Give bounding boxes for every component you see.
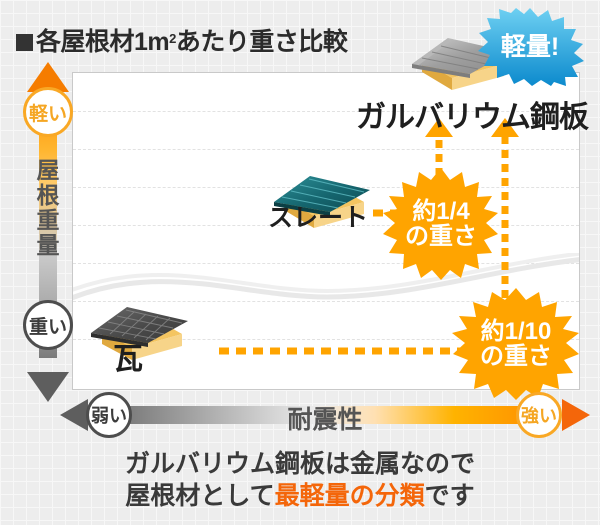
horizontal-axis-label: 耐震性 (60, 400, 590, 436)
badge-tenth-weight: 約1/10 の重さ (452, 288, 580, 400)
vertical-axis-label: 屋 根 重 量 (35, 158, 61, 258)
caption-line2-before: 屋根材として (125, 482, 274, 510)
label-galvalume: ガルバリウム鋼板 (356, 92, 588, 136)
badge-lightweight: 軽量! (475, 8, 585, 86)
caption-line-1: ガルバリウム鋼板は金属なので (0, 448, 600, 480)
horizontal-axis: 耐震性 弱い 強い (60, 392, 590, 438)
vertical-axis-label-char: 根 (35, 183, 61, 208)
caption: ガルバリウム鋼板は金属なので 屋根材として最軽量の分類です (0, 448, 600, 512)
page-title-superscript: 2 (169, 31, 176, 46)
label-slate: スレート (268, 198, 368, 234)
badge-quarter-text: 約1/4 の重さ (405, 199, 477, 249)
vertical-axis: 軽い 重い 屋 根 重 量 (22, 62, 74, 402)
badge-tenth-line1: 約1/10 (481, 318, 552, 345)
badge-quarter-weight: 約1/4 の重さ (383, 168, 499, 280)
vertical-axis-label-char: 重 (35, 208, 61, 233)
vertical-axis-label-char: 量 (35, 233, 61, 258)
infographic-root: 各屋根材1m2あたり重さ比較 (0, 0, 600, 525)
badge-quarter-line2: の重さ (405, 223, 477, 250)
axis-badge-weak: 弱い (86, 392, 132, 438)
badge-tenth-text: 約1/10 の重さ (480, 319, 552, 369)
caption-line-2: 屋根材として最軽量の分類です (0, 480, 600, 512)
page-title: 各屋根材1m2あたり重さ比較 (16, 22, 347, 58)
badge-quarter-line1: 約1/4 (412, 198, 469, 225)
label-kawara: 瓦 (113, 334, 143, 378)
caption-highlight: 最軽量の分類 (275, 482, 425, 510)
bullet-square-icon (16, 34, 33, 51)
badge-lightweight-text: 軽量! (501, 34, 559, 60)
axis-badge-light: 軽い (23, 87, 73, 137)
axis-badge-strong: 強い (516, 392, 562, 438)
axis-badge-heavy: 重い (23, 300, 73, 350)
vertical-axis-label-char: 屋 (35, 158, 61, 183)
page-title-text-after: あたり重さ比較 (176, 28, 348, 56)
page-title-text-before: 各屋根材1m (36, 28, 169, 56)
badge-tenth-line2: の重さ (480, 343, 552, 370)
caption-line2-after: です (425, 482, 475, 510)
